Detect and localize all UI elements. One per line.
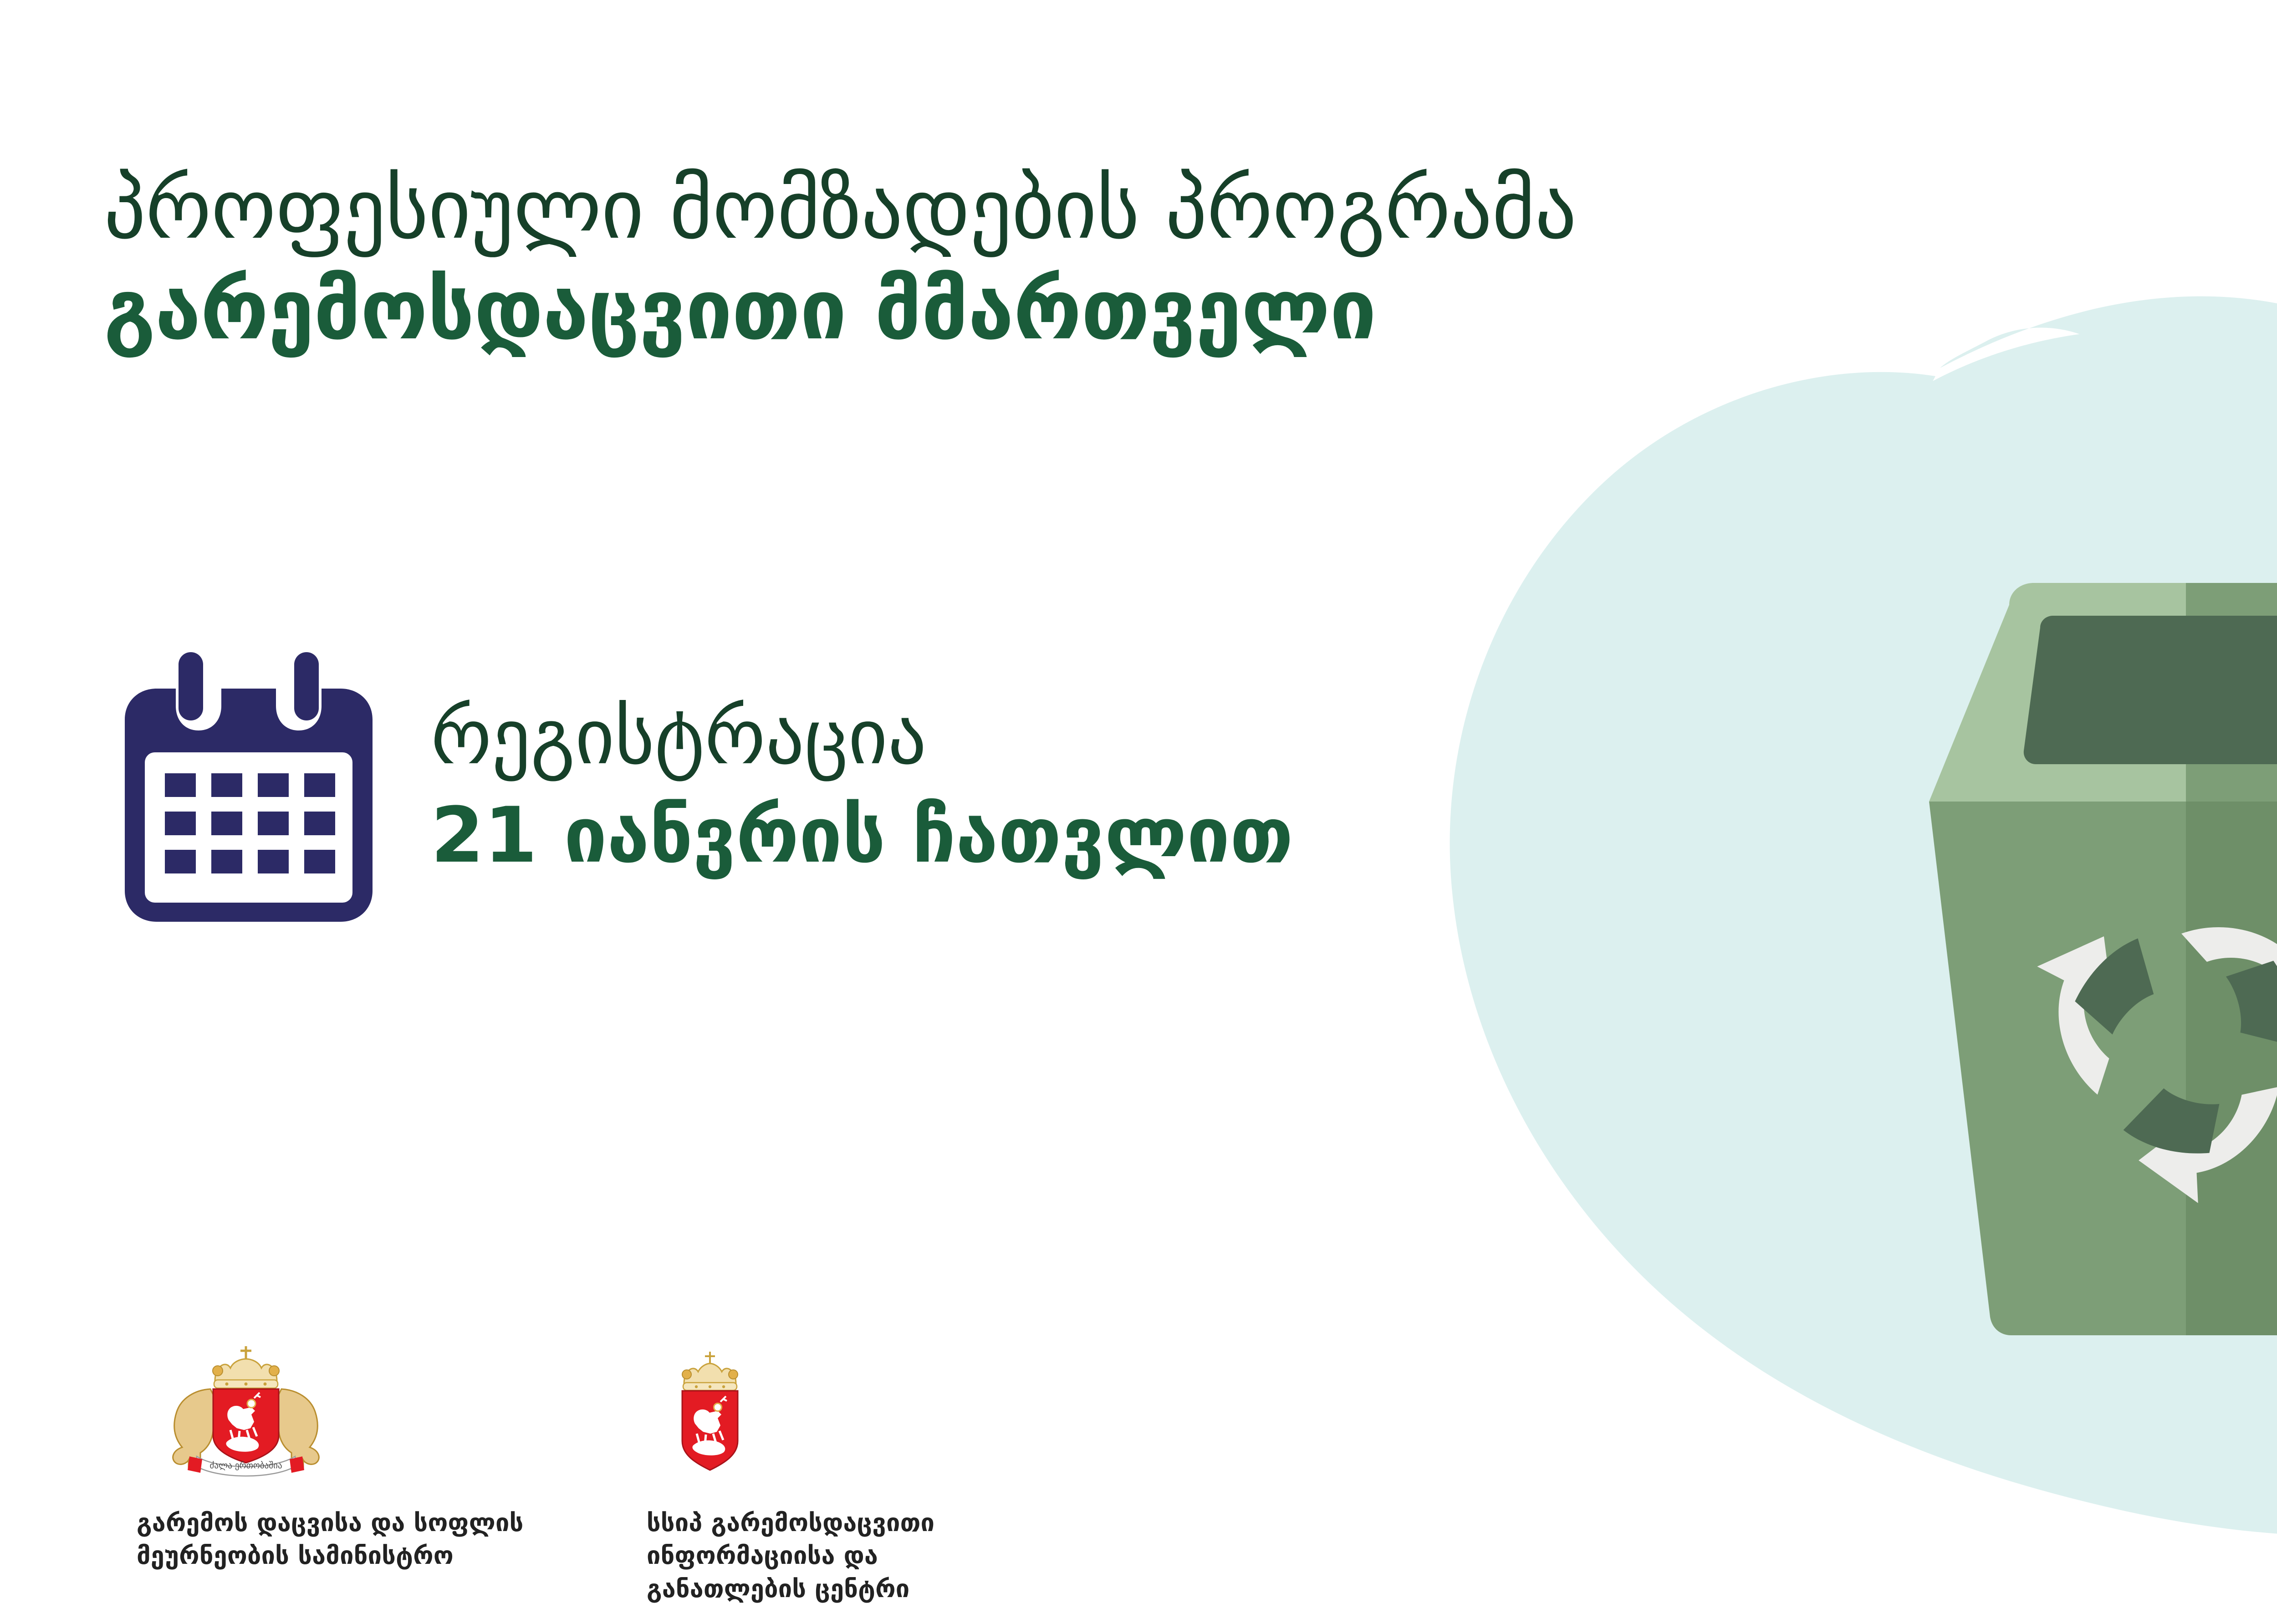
bin-body-left (1929, 802, 2186, 1335)
center-caption-line-1: სსიპ გარემოსდაცვითი (647, 1507, 1102, 1539)
center-caption: სსიპ გარემოსდაცვითი ინფორმაციისა და განა… (647, 1507, 1102, 1605)
poster-canvas: პროფესიული მომზადების პროგრამა გარემოსდა… (0, 0, 2277, 1624)
emblem-motto: ძალა ერთობაშია (209, 1461, 282, 1471)
ministry-logo-unit: ძალა ერთობაშია გარემოს დაცვისა და სოფლის… (137, 1330, 556, 1573)
headline-block: პროფესიული მომზადების პროგრამა გარემოსდა… (104, 160, 1925, 359)
bin-body-right (2186, 802, 2277, 1335)
bin-opening (2024, 616, 2277, 764)
program-name-title: გარემოსდაცვითი მმართველი (104, 261, 1925, 359)
recycling-bin-illustration (1904, 574, 2277, 1348)
georgia-coat-of-arms-icon: ძალა ერთობაშია (137, 1330, 556, 1480)
registration-text: რეგისტრაცია 21 იანვრის ჩათვლით (431, 638, 1293, 881)
center-caption-line-2: ინფორმაციისა და (647, 1539, 1102, 1572)
calendar-icon (112, 638, 385, 929)
georgia-shield-crown-icon (647, 1330, 1102, 1480)
program-type-title: პროფესიული მომზადების პროგრამა (104, 160, 1925, 258)
registration-row: რეგისტრაცია 21 იანვრის ჩათვლით (112, 638, 1293, 929)
footer-logos: ძალა ერთობაშია გარემოს დაცვისა და სოფლის… (137, 1330, 1102, 1605)
registration-deadline: 21 იანვრის ჩათვლით (431, 790, 1293, 882)
ministry-caption-line-2: მეურნეობის სამინისტრო (137, 1539, 556, 1572)
ministry-caption-line-1: გარემოს დაცვისა და სოფლის (137, 1507, 556, 1539)
ministry-caption: გარემოს დაცვისა და სოფლის მეურნეობის სამ… (137, 1507, 556, 1573)
registration-label: რეგისტრაცია (431, 691, 1293, 783)
center-caption-line-3: განათლების ცენტრი (647, 1573, 1102, 1605)
center-logo-unit: სსიპ გარემოსდაცვითი ინფორმაციისა და განა… (647, 1330, 1102, 1605)
